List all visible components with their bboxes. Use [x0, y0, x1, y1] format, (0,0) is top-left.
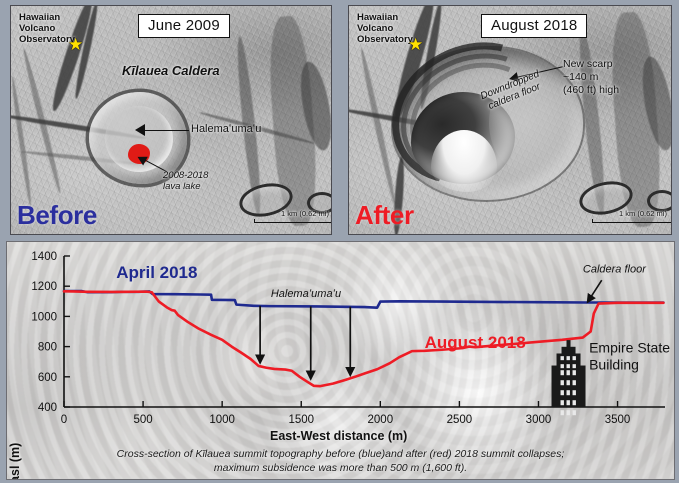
scalebar-label-before: 1 km (0.62 mi) [281, 209, 329, 218]
observatory-star-icon-after: ★ [408, 36, 423, 53]
new-scarp-label: New scarp ~140 m (460 ft) high [563, 58, 619, 97]
y-tick-label: 1400 [31, 251, 57, 263]
map-panel-after: Hawaiian Volcano Observatory ★ August 20… [348, 5, 672, 235]
series-label: August 2018 [425, 333, 526, 352]
halemaumau-label: Halemaʻumaʻu [271, 288, 341, 300]
empire-state-building-icon [552, 340, 586, 415]
x-axis-title: East-West distance (m) [270, 429, 407, 443]
x-tick-label: 1500 [288, 414, 314, 426]
before-word-label: Before [17, 200, 97, 231]
x-tick-label: 3000 [526, 414, 552, 426]
x-tick-label: 2000 [368, 414, 394, 426]
lava-lake-label: 2008-2018 lava lake [163, 170, 208, 193]
x-tick-label: 2500 [447, 414, 473, 426]
halemaumau-arrowhead [135, 124, 145, 136]
observatory-label-after: Hawaiian Volcano Observatory [357, 13, 413, 46]
caldera-name-label: Kīlauea Caldera [122, 64, 220, 79]
series-label: April 2018 [116, 263, 197, 282]
observatory-star-icon-before: ★ [68, 36, 83, 53]
scalebar-label-after: 1 km (0.62 mi) [619, 209, 667, 218]
cross-section-chart: 4006008001000120014000500100015002000250… [6, 241, 675, 480]
caldera-floor-leader [589, 280, 602, 300]
figure-caption: Cross-section of Kīlauea summit topograp… [7, 447, 674, 475]
empire-state-label: Empire State [589, 340, 670, 356]
x-tick-label: 1000 [209, 414, 235, 426]
halemaumau-leader-line [143, 130, 189, 131]
observatory-label-before: Hawaiian Volcano Observatory [19, 13, 75, 46]
scalebar-before: 1 km (0.62 mi) [254, 209, 332, 223]
empire-state-label: Building [589, 357, 639, 373]
x-tick-label: 3500 [605, 414, 631, 426]
y-tick-label: 600 [38, 372, 57, 384]
y-tick-label: 800 [38, 342, 57, 354]
map-panels: Hawaiian Volcano Observatory ★ June 2009… [0, 0, 679, 238]
figure-root: Hawaiian Volcano Observatory ★ June 2009… [0, 0, 679, 483]
panel-title-after: August 2018 [481, 14, 587, 38]
x-tick-label: 500 [133, 414, 152, 426]
y-tick-label: 1200 [31, 281, 57, 293]
chart-plot-svg: 4006008001000120014000500100015002000250… [7, 242, 674, 479]
map-panel-before: Hawaiian Volcano Observatory ★ June 2009… [10, 5, 332, 235]
scalebar-after: 1 km (0.62 mi) [592, 209, 672, 223]
x-tick-label: 0 [61, 414, 67, 426]
y-tick-label: 1000 [31, 311, 57, 323]
after-word-label: After [355, 200, 414, 231]
y-tick-label: 400 [38, 402, 57, 414]
halemaumau-label-before: Halemaʻumaʻu [191, 123, 261, 136]
caldera-floor-label: Caldera floor [583, 264, 647, 276]
panel-title-before: June 2009 [138, 14, 230, 38]
